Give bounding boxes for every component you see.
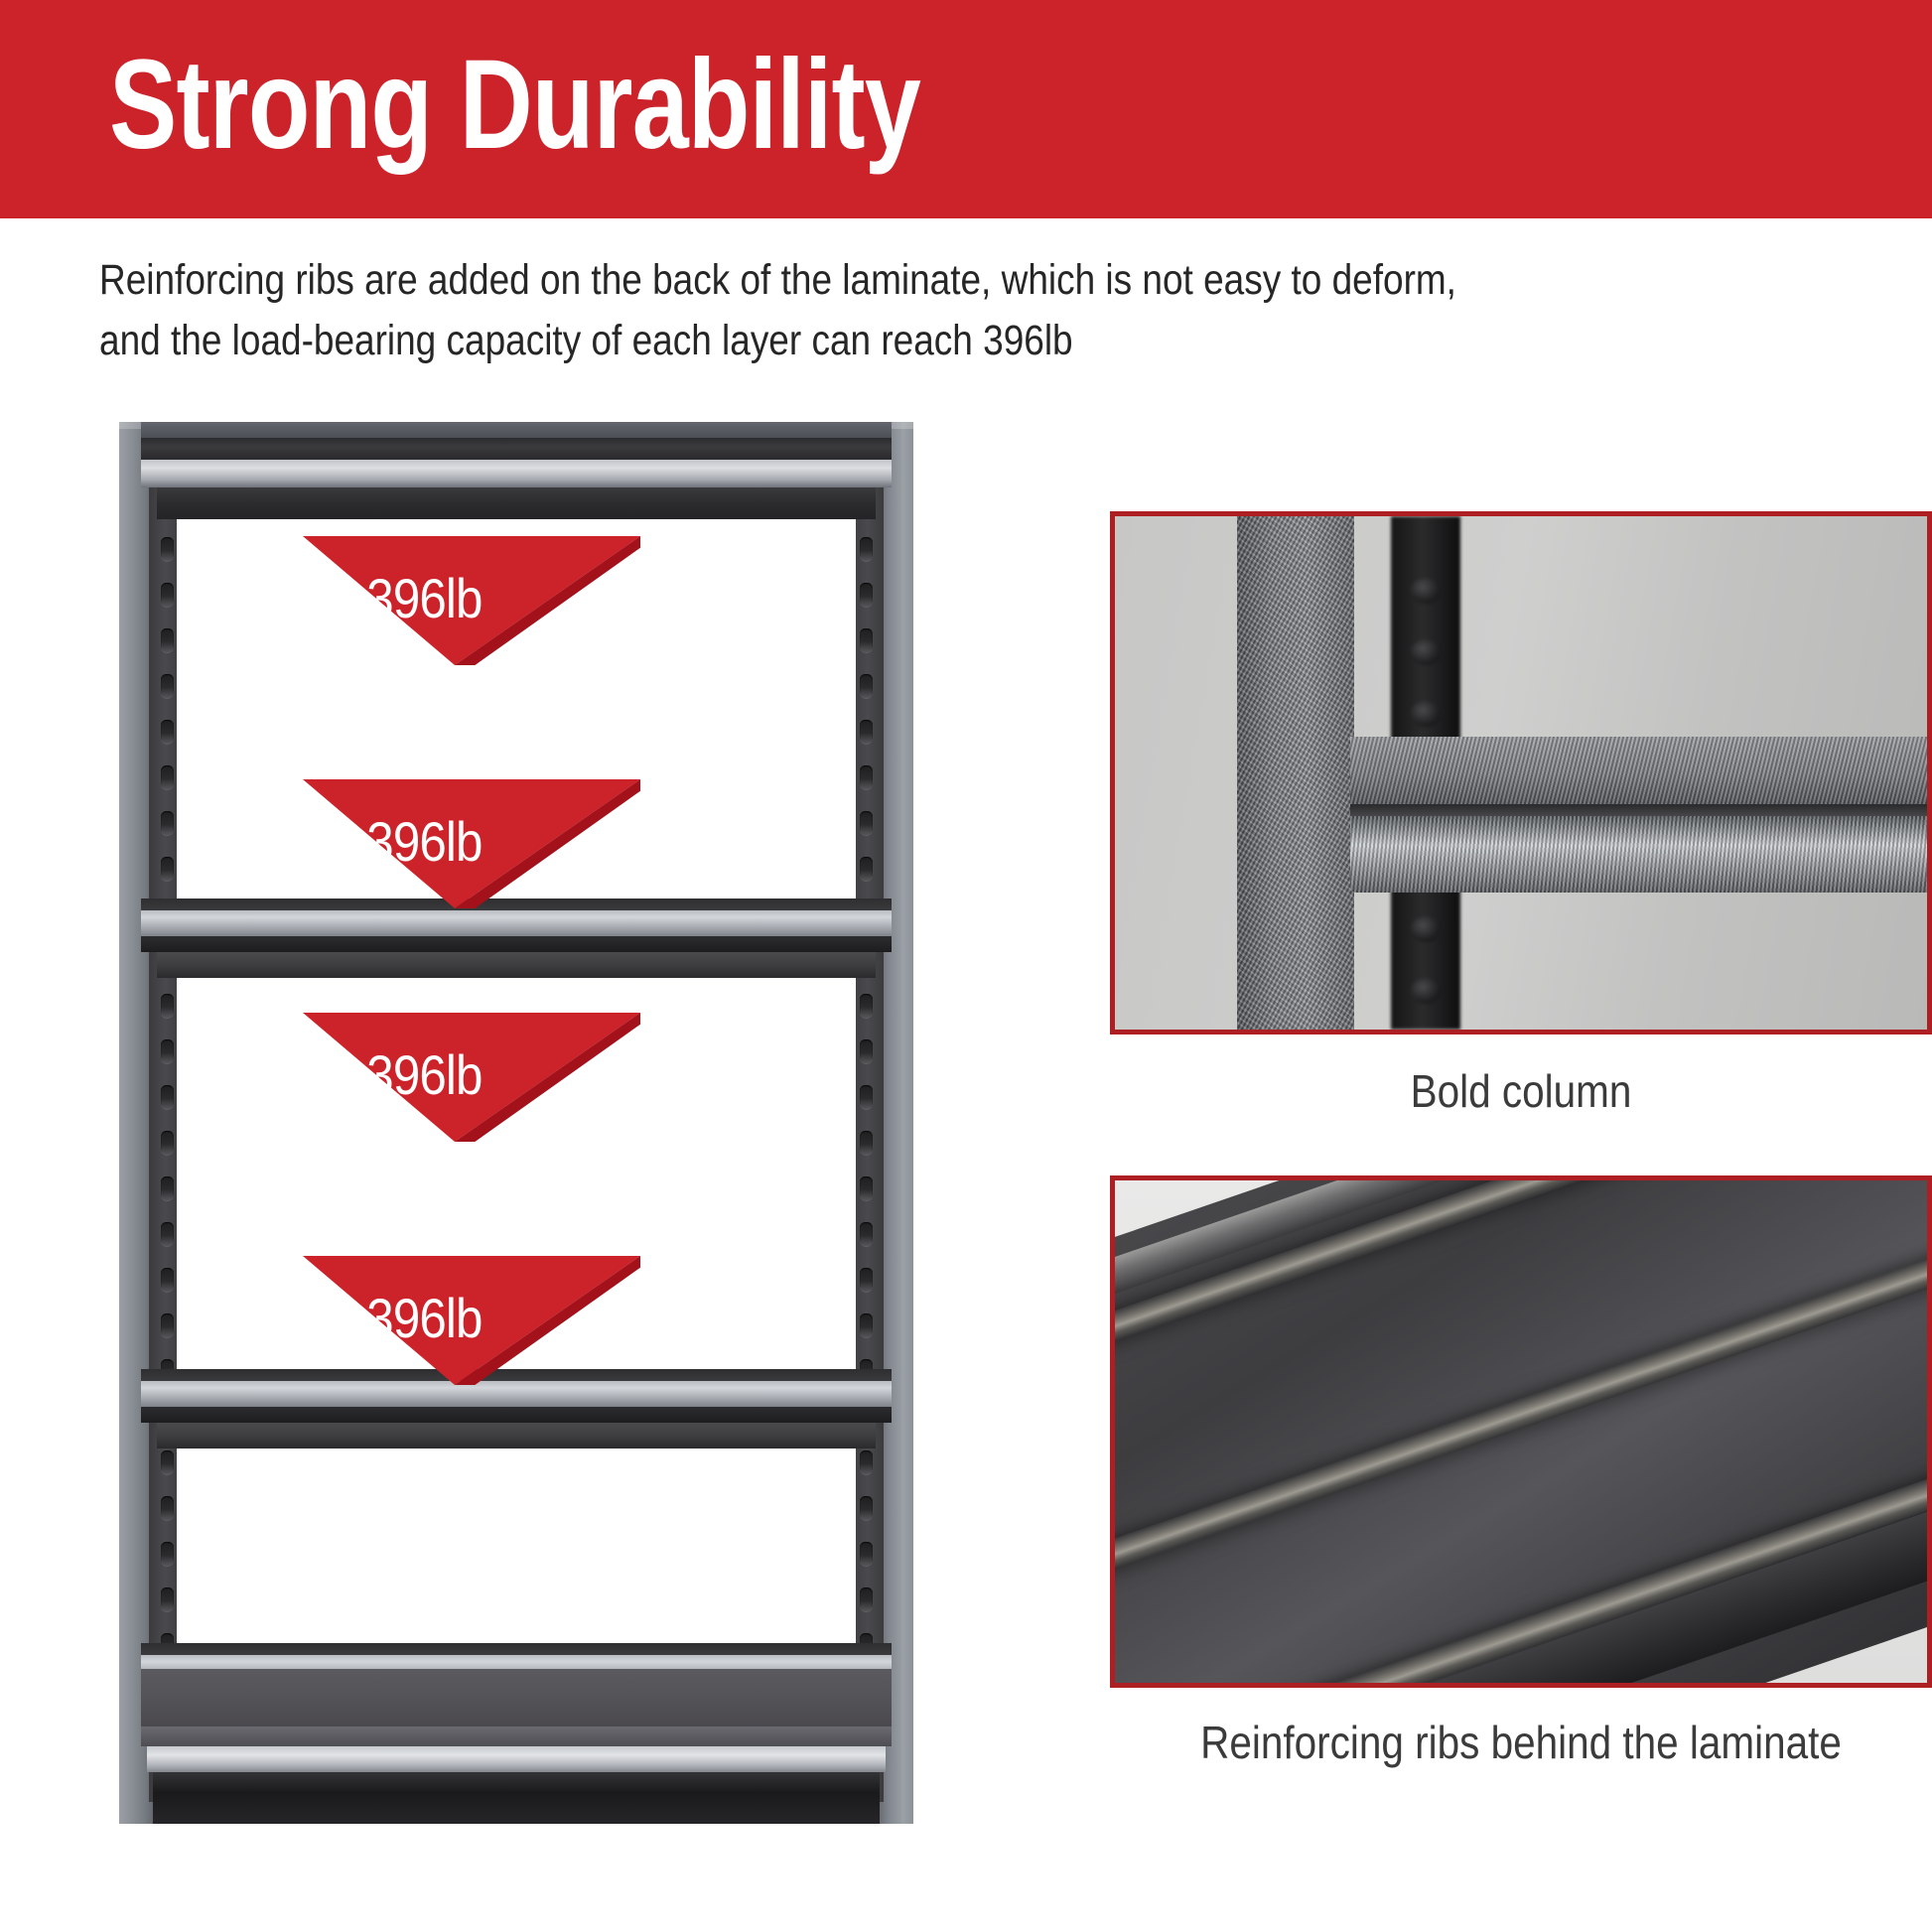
- upright-slot: [860, 857, 873, 881]
- upright-slot: [860, 765, 873, 789]
- photo-card-bold-column: [1110, 511, 1932, 1035]
- upright-slot: [161, 1496, 174, 1520]
- upright-slot: [161, 1085, 174, 1109]
- upright-slot: [161, 765, 174, 789]
- upright-slot: [161, 628, 174, 652]
- upright-slot: [161, 720, 174, 744]
- upright-slot: [161, 1450, 174, 1474]
- front-column-detail: [1237, 516, 1355, 1030]
- load-badge-label-4: 396lb: [318, 1286, 531, 1350]
- beam-bottom-detail: [1350, 816, 1932, 894]
- description-text: Reinforcing ribs are added on the back o…: [99, 250, 1602, 371]
- load-badge-label-2: 396lb: [318, 809, 531, 874]
- upright-slot: [860, 1085, 873, 1109]
- photo-caption-reinforcing-ribs: Reinforcing ribs behind the laminate: [1160, 1716, 1883, 1769]
- upright-slot: [860, 1268, 873, 1292]
- upright-slot: [161, 1131, 174, 1155]
- upright-slot: [860, 1496, 873, 1520]
- upright-slot: [161, 857, 174, 881]
- description-line-1: Reinforcing ribs are added on the back o…: [99, 250, 1602, 311]
- upright-slot: [860, 994, 873, 1018]
- beam-seam-detail: [1350, 804, 1932, 816]
- upright-slot: [161, 994, 174, 1018]
- load-badge-2: 396lb: [303, 779, 640, 908]
- reinforcing-rib-1: [1110, 1175, 1932, 1416]
- upright-slot: [161, 1542, 174, 1566]
- photo-bold-column: [1110, 511, 1932, 1035]
- load-badge-3: 396lb: [303, 1013, 640, 1142]
- upright-slot: [860, 537, 873, 561]
- upright-slot: [860, 811, 873, 835]
- upright-slot: [860, 628, 873, 652]
- load-badge-label-3: 396lb: [318, 1042, 531, 1107]
- upright-slot: [161, 583, 174, 607]
- load-badge-1: 396lb: [303, 536, 640, 665]
- upright-slot: [161, 1587, 174, 1611]
- header-banner: Strong Durability: [0, 0, 1932, 218]
- upright-slot: [860, 720, 873, 744]
- upright-slot: [860, 674, 873, 698]
- upright-slot: [860, 1313, 873, 1337]
- load-badge-4: 396lb: [303, 1256, 640, 1385]
- beam-top-detail: [1350, 737, 1932, 803]
- upright-slot: [161, 674, 174, 698]
- upright-slot: [860, 1176, 873, 1200]
- upright-slot: [860, 1039, 873, 1063]
- upright-slot: [161, 537, 174, 561]
- upright-slot: [860, 1450, 873, 1474]
- upright-slot: [860, 1222, 873, 1246]
- photo-card-reinforcing-ribs: [1110, 1175, 1932, 1688]
- upright-slot: [860, 1131, 873, 1155]
- photo-caption-bold-column: Bold column: [1160, 1064, 1883, 1118]
- upright-slot: [161, 1268, 174, 1292]
- upright-slot: [860, 1587, 873, 1611]
- upright-slot: [161, 811, 174, 835]
- upright-slot: [860, 1542, 873, 1566]
- reinforcing-rib-3: [1110, 1399, 1932, 1688]
- upright-slot: [161, 1039, 174, 1063]
- page-title: Strong Durability: [109, 26, 920, 185]
- photo-reinforcing-ribs: [1110, 1175, 1932, 1688]
- shelving-unit-illustration: 396lb 396lb 396lb 396lb: [119, 422, 913, 1824]
- upright-slot: [860, 583, 873, 607]
- description-line-2: and the load-bearing capacity of each la…: [99, 311, 1602, 371]
- load-badge-label-1: 396lb: [318, 566, 531, 630]
- shelf-post-left: [119, 422, 153, 1824]
- upright-slot: [161, 1313, 174, 1337]
- upright-slot: [161, 1176, 174, 1200]
- shelf-bay-3: [177, 1423, 856, 1643]
- shelf-post-right: [880, 422, 913, 1824]
- upright-slot: [161, 1222, 174, 1246]
